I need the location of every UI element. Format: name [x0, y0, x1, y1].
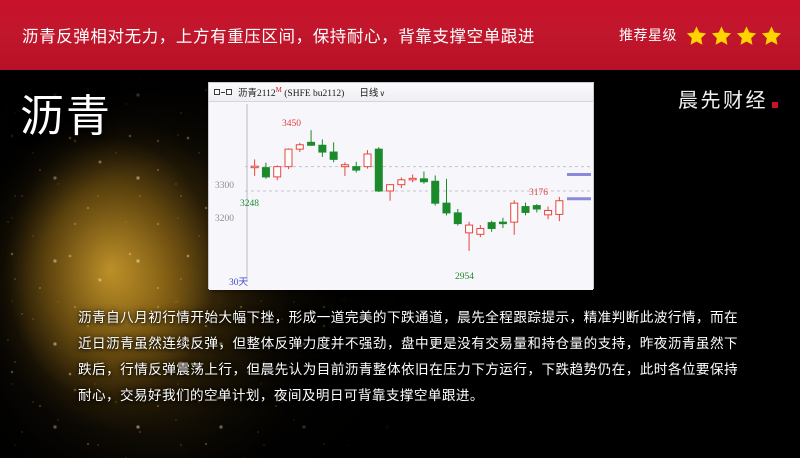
y-axis-label-3300: 3300 — [215, 181, 234, 191]
star-icon — [686, 25, 707, 46]
brand-name: 晨先财经 — [678, 90, 768, 110]
brand-dot-icon — [772, 102, 778, 108]
chart-period-label: 日线 — [359, 88, 378, 99]
chart-panel: 沥青2112M (SHFE bu2112) 日线∨ 3300 3200 3450… — [208, 82, 594, 289]
chart-grid-icon[interactable] — [214, 89, 232, 95]
chevron-down-icon: ∨ — [379, 89, 385, 98]
y-axis-label-3200: 3200 — [215, 214, 234, 224]
rating-label: 推荐星级 — [619, 25, 677, 45]
header-bar: 沥青反弹相对无力，上方有重压区间，保持耐心，背靠支撑空单跟进 推荐星级 — [0, 0, 800, 70]
chart-symbol: 沥青2112 — [238, 89, 276, 99]
star-icon — [761, 25, 782, 46]
chart-period-selector[interactable]: 日线∨ — [359, 85, 385, 99]
brand-logo: 晨先财经 — [678, 90, 778, 110]
annotation-period-30d: 30天 — [229, 274, 248, 288]
annotation-last-3176: 3176 — [529, 188, 548, 198]
star-icon — [711, 25, 732, 46]
chart-toolbar: 沥青2112M (SHFE bu2112) 日线∨ — [209, 83, 593, 102]
star-icon — [736, 25, 757, 46]
rating-stars — [686, 25, 782, 46]
commodity-title: 沥青 — [20, 95, 112, 139]
chart-canvas[interactable]: 3300 3200 3450 3248 2954 3176 30天 — [209, 102, 593, 290]
rating-group: 推荐星级 — [619, 25, 782, 46]
chart-exchange-code: (SHFE bu2112) — [284, 89, 344, 99]
annotation-high-3450: 3450 — [282, 119, 301, 129]
analysis-paragraph: 沥青自八月初行情开始大幅下挫，形成一道完美的下跌通道，晨先全程跟踪提示，精准判断… — [78, 305, 738, 409]
chart-symbol-sup: M — [276, 86, 282, 94]
poster-root: 沥青反弹相对无力，上方有重压区间，保持耐心，背靠支撑空单跟进 推荐星级 沥青 晨… — [0, 0, 800, 458]
chart-symbol-title[interactable]: 沥青2112M (SHFE bu2112) — [238, 85, 344, 99]
annotation-low-2954: 2954 — [455, 272, 474, 282]
annotation-open-3248: 3248 — [240, 199, 259, 209]
header-title: 沥青反弹相对无力，上方有重压区间，保持耐心，背靠支撑空单跟进 — [22, 23, 535, 47]
